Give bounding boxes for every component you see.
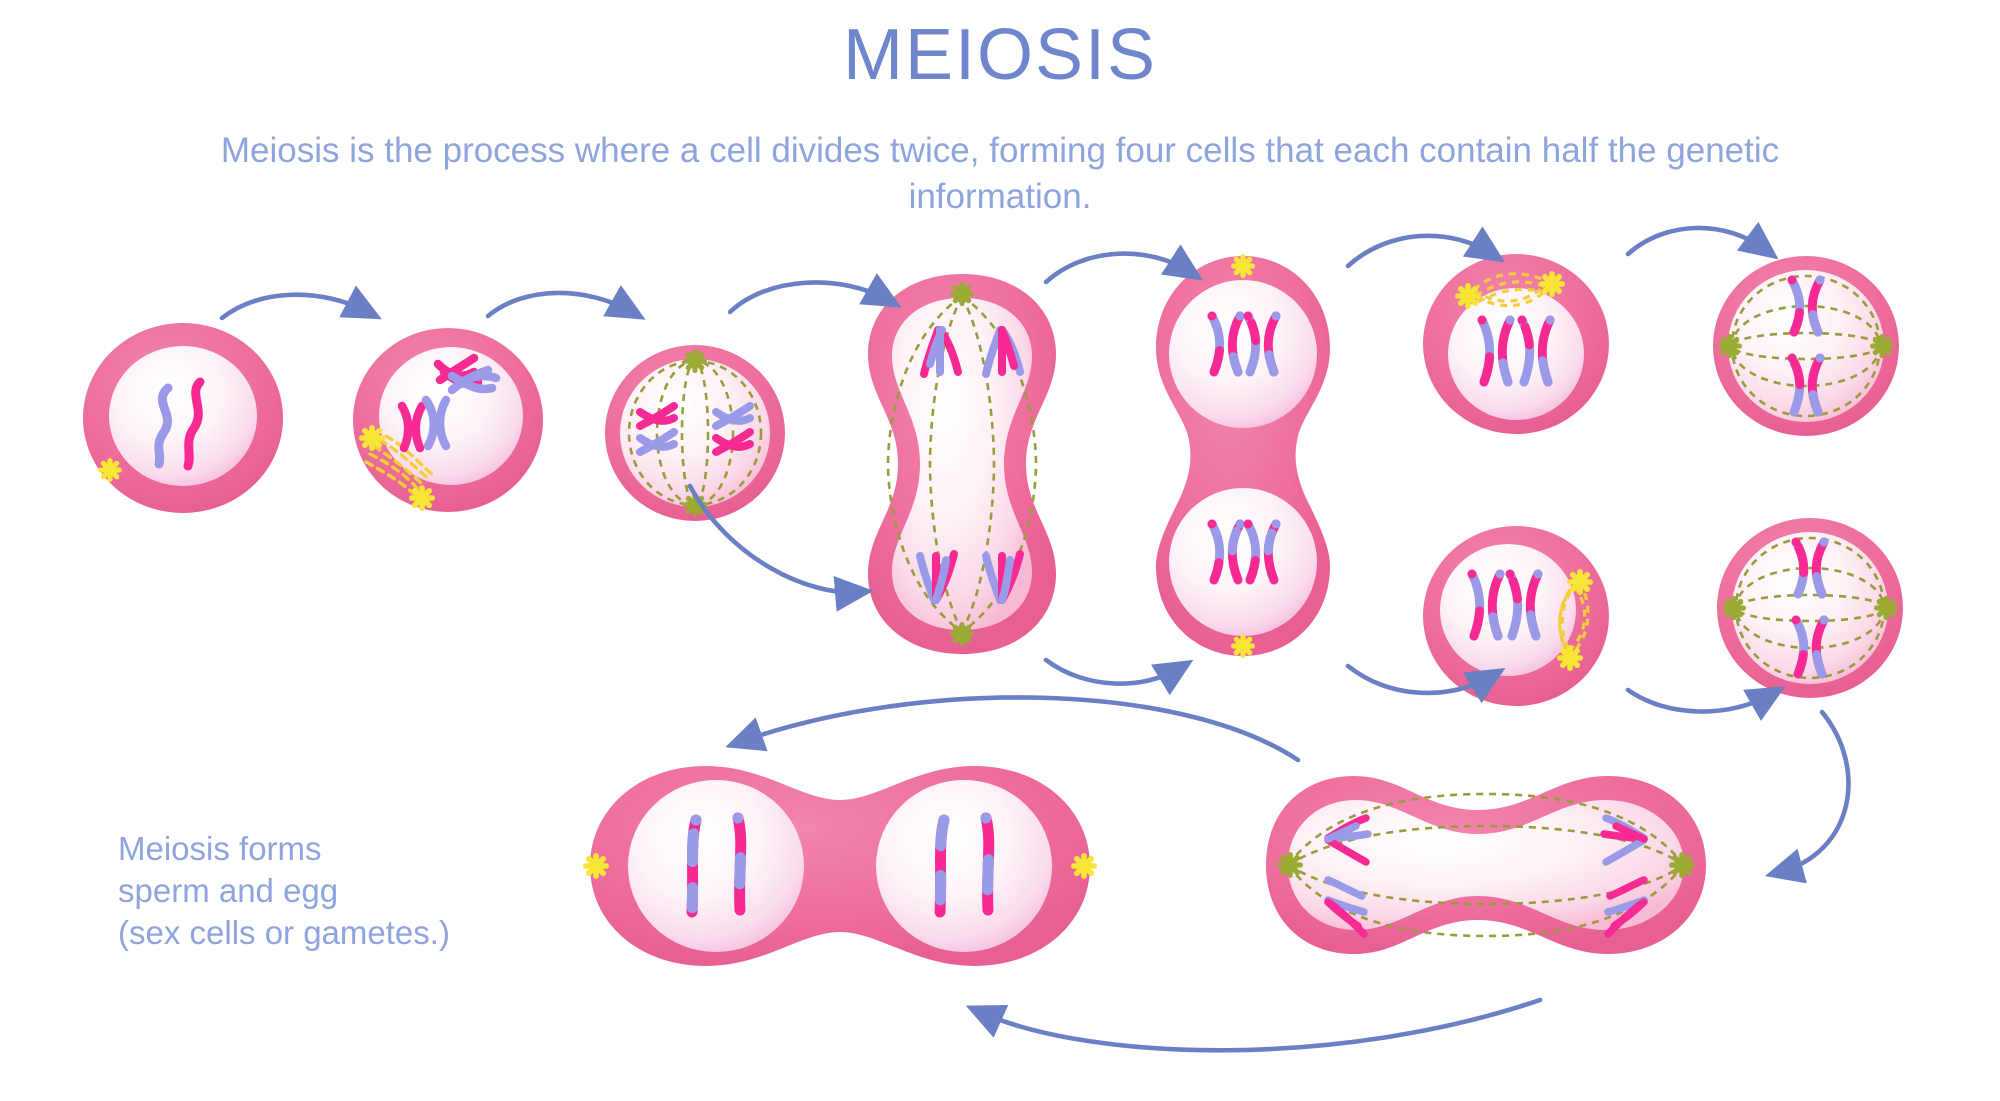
cytoplasm	[1732, 532, 1888, 684]
cell-stage-6a-prophase-2-upper	[1418, 248, 1614, 440]
nucleus-left	[628, 780, 804, 952]
cell-stage-2-prophase-1	[348, 322, 548, 518]
nucleus-bottom	[1169, 488, 1317, 636]
centriole-yellow-icon	[98, 458, 122, 482]
nucleus-right	[876, 780, 1052, 952]
page-title: MEIOSIS	[0, 14, 2000, 96]
cell-stage-1-interphase	[78, 318, 288, 518]
meiosis-infographic: MEIOSIS Meiosis is the process where a c…	[0, 0, 2000, 1101]
arrow-stage4-to-stage5-lower	[1046, 660, 1180, 684]
cell-stage-7a-metaphase-2-upper	[1708, 250, 1904, 442]
nucleus-top	[1169, 280, 1317, 428]
nucleus	[109, 346, 257, 486]
cell-stage-9-gametes	[580, 758, 1100, 974]
arrow-stage1-to-stage2	[222, 295, 368, 318]
gametes-caption: Meiosis forms sperm and egg (sex cells o…	[118, 828, 638, 954]
arrow-stage8-to-stage9-lower	[980, 1000, 1540, 1050]
cell-stage-4-anaphase-1	[858, 268, 1066, 660]
cell-stage-8-anaphase-2	[1258, 750, 1714, 980]
cell-stage-3-metaphase-1	[600, 340, 790, 526]
cell-stage-5-telophase-1	[1148, 248, 1338, 662]
arrow-stage8-to-stage9	[740, 697, 1298, 760]
cell-stage-7b-metaphase-2-lower	[1712, 512, 1908, 704]
page-subtitle: Meiosis is the process where a cell divi…	[130, 128, 1870, 220]
arrow-stage2-to-stage3	[488, 293, 632, 316]
cell-stage-6b-prophase-2-lower	[1418, 520, 1614, 712]
nucleus	[1440, 544, 1576, 676]
cytoplasm	[1728, 270, 1884, 422]
arrow-stage7b-to-stage8	[1780, 712, 1848, 872]
